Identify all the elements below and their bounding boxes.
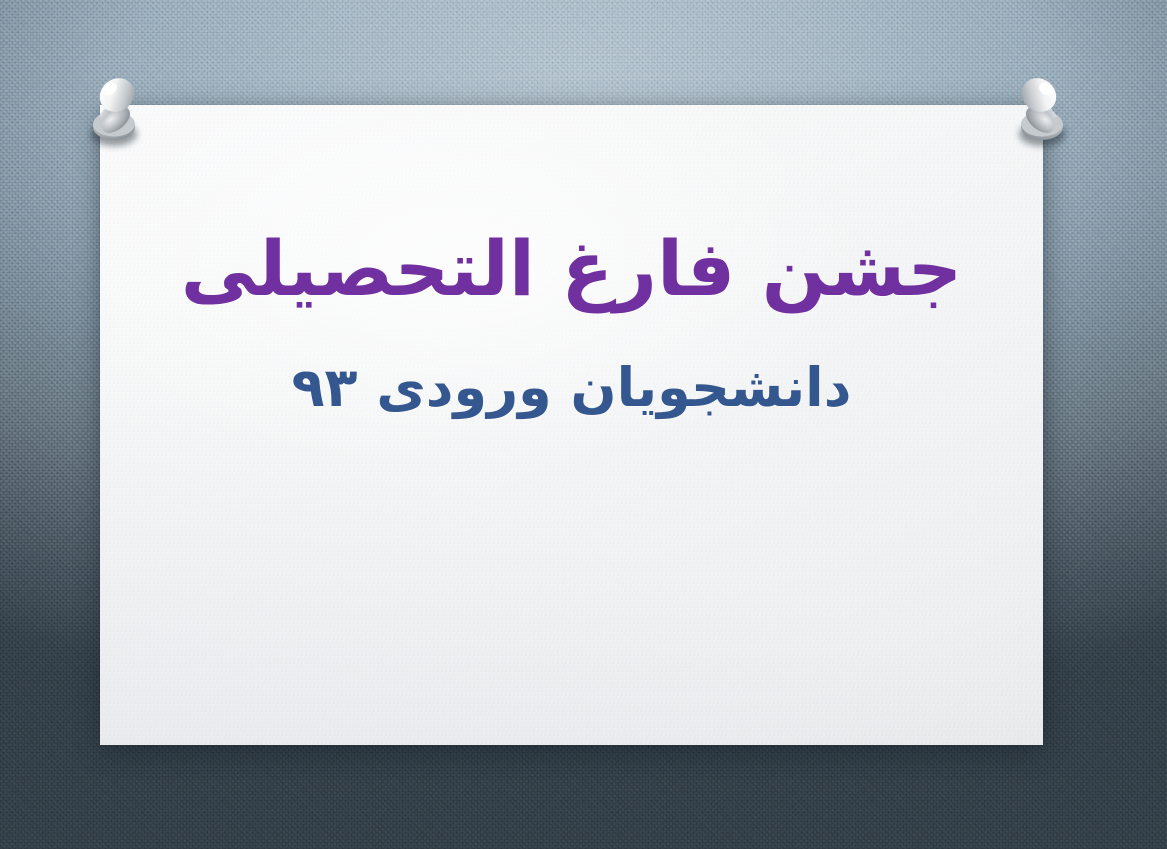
paper-grain-texture (100, 105, 1043, 745)
presentation-slide: جشن فارغ التحصیلی دانشجویان ورودی ۹۳ (0, 0, 1167, 849)
slide-subtitle: دانشجویان ورودی ۹۳ (100, 354, 1043, 422)
slide-title: جشن فارغ التحصیلی (100, 223, 1043, 316)
slide-text-block: جشن فارغ التحصیلی دانشجویان ورودی ۹۳ (100, 223, 1043, 421)
paper-sheet: جشن فارغ التحصیلی دانشجویان ورودی ۹۳ (100, 105, 1043, 745)
paper-light-sheen (100, 105, 1043, 745)
